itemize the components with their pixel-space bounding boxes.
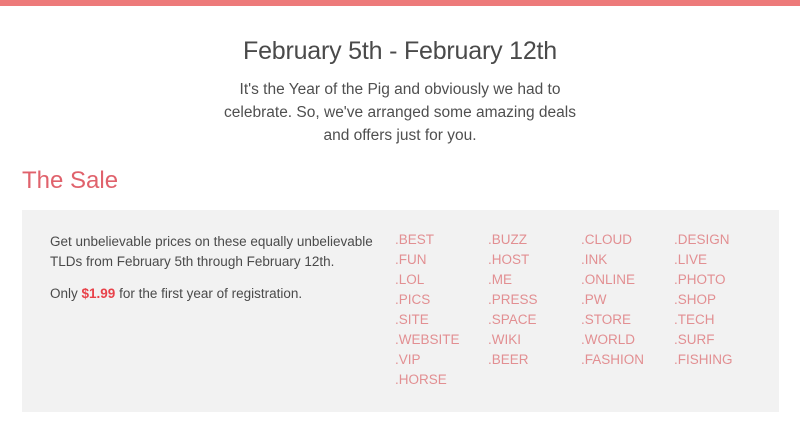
hero-subtitle: It's the Year of the Pig and obviously w… [215, 66, 585, 148]
price-amount: $1.99 [82, 286, 116, 301]
hero-section: February 5th - February 12th It's the Ye… [0, 6, 800, 147]
sale-section-heading: The Sale [22, 167, 118, 196]
tld-column-3: .CLOUD .INK .ONLINE .PW .STORE .WORLD .F… [581, 230, 674, 390]
tld-item[interactable]: .VIP [395, 350, 488, 370]
tld-item[interactable]: .WORLD [581, 330, 674, 350]
tld-item[interactable]: .PICS [395, 290, 488, 310]
sale-description: Get unbelievable prices on these equally… [50, 232, 395, 271]
price-prefix-text: Only [50, 286, 82, 301]
price-suffix-text: for the first year of registration. [115, 286, 302, 301]
page-title: February 5th - February 12th [0, 6, 800, 66]
tld-item[interactable]: .STORE [581, 310, 674, 330]
tld-item[interactable]: .PW [581, 290, 674, 310]
tld-item[interactable]: .WEBSITE [395, 330, 488, 350]
tld-column-2: .BUZZ .HOST .ME .PRESS .SPACE .WIKI .BEE… [488, 230, 581, 390]
sale-copy: Get unbelievable prices on these equally… [50, 232, 395, 317]
tld-column-4: .DESIGN .LIVE .PHOTO .SHOP .TECH .SURF .… [674, 230, 767, 390]
tld-item[interactable]: .FUN [395, 250, 488, 270]
tld-list: .BEST .FUN .LOL .PICS .SITE .WEBSITE .VI… [395, 230, 779, 390]
tld-item[interactable]: .BUZZ [488, 230, 581, 250]
tld-item[interactable]: .SHOP [674, 290, 767, 310]
tld-item[interactable]: .FISHING [674, 350, 767, 370]
tld-item[interactable]: .SPACE [488, 310, 581, 330]
tld-item[interactable]: .SITE [395, 310, 488, 330]
tld-item[interactable]: .LOL [395, 270, 488, 290]
tld-item[interactable]: .DESIGN [674, 230, 767, 250]
tld-item[interactable]: .TECH [674, 310, 767, 330]
tld-item[interactable]: .INK [581, 250, 674, 270]
tld-item[interactable]: .HORSE [395, 370, 488, 390]
tld-item[interactable]: .ONLINE [581, 270, 674, 290]
sale-panel: Get unbelievable prices on these equally… [22, 210, 779, 412]
tld-item[interactable]: .PHOTO [674, 270, 767, 290]
tld-item[interactable]: .BEER [488, 350, 581, 370]
tld-item[interactable]: .LIVE [674, 250, 767, 270]
sale-price-line: Only $1.99 for the first year of registr… [50, 284, 395, 304]
tld-item[interactable]: .HOST [488, 250, 581, 270]
tld-column-1: .BEST .FUN .LOL .PICS .SITE .WEBSITE .VI… [395, 230, 488, 390]
tld-item[interactable]: .ME [488, 270, 581, 290]
tld-item[interactable]: .FASHION [581, 350, 674, 370]
tld-item[interactable]: .SURF [674, 330, 767, 350]
tld-item[interactable]: .BEST [395, 230, 488, 250]
tld-item[interactable]: .CLOUD [581, 230, 674, 250]
tld-item[interactable]: .PRESS [488, 290, 581, 310]
tld-item[interactable]: .WIKI [488, 330, 581, 350]
